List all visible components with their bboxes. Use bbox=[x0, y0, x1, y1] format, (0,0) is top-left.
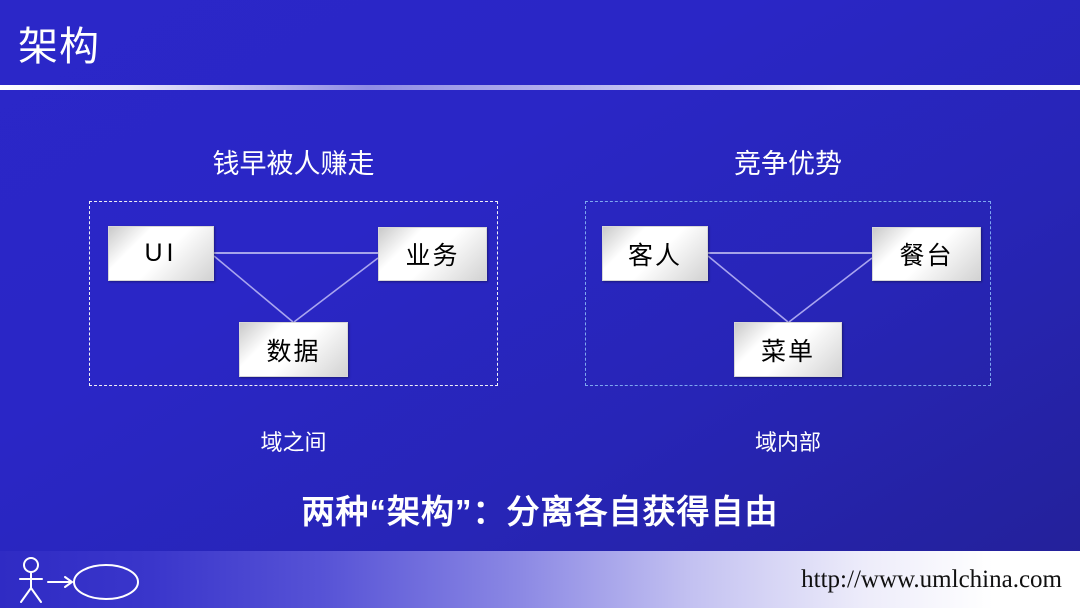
node-guest[interactable]: 客人 bbox=[602, 226, 708, 281]
title-divider bbox=[0, 85, 1080, 90]
node-business[interactable]: 业务 bbox=[378, 227, 487, 281]
footer-url[interactable]: http://www.umlchina.com bbox=[801, 565, 1062, 595]
node-dining-table[interactable]: 餐台 bbox=[872, 227, 981, 281]
group-caption-left: 域之间 bbox=[89, 430, 498, 456]
uml-actor-usecase-icon bbox=[12, 553, 172, 605]
slide-headline: 两种“架构”：分离各自获得自由 bbox=[0, 492, 1080, 532]
node-data[interactable]: 数据 bbox=[239, 322, 348, 377]
slide-title-bar: 架构 bbox=[0, 0, 1080, 92]
group-caption-right: 域内部 bbox=[585, 430, 991, 456]
group-heading-left: 钱早被人赚走 bbox=[89, 148, 498, 180]
group-heading-right: 竞争优势 bbox=[585, 148, 991, 180]
page-title: 架构 bbox=[18, 24, 100, 70]
slide-canvas: 架构 钱早被人赚走 UI 业务 数据 域之间 竞争优势 客人 餐台 菜单 域内部… bbox=[0, 0, 1080, 608]
node-ui[interactable]: UI bbox=[108, 226, 214, 281]
node-menu[interactable]: 菜单 bbox=[734, 322, 842, 377]
